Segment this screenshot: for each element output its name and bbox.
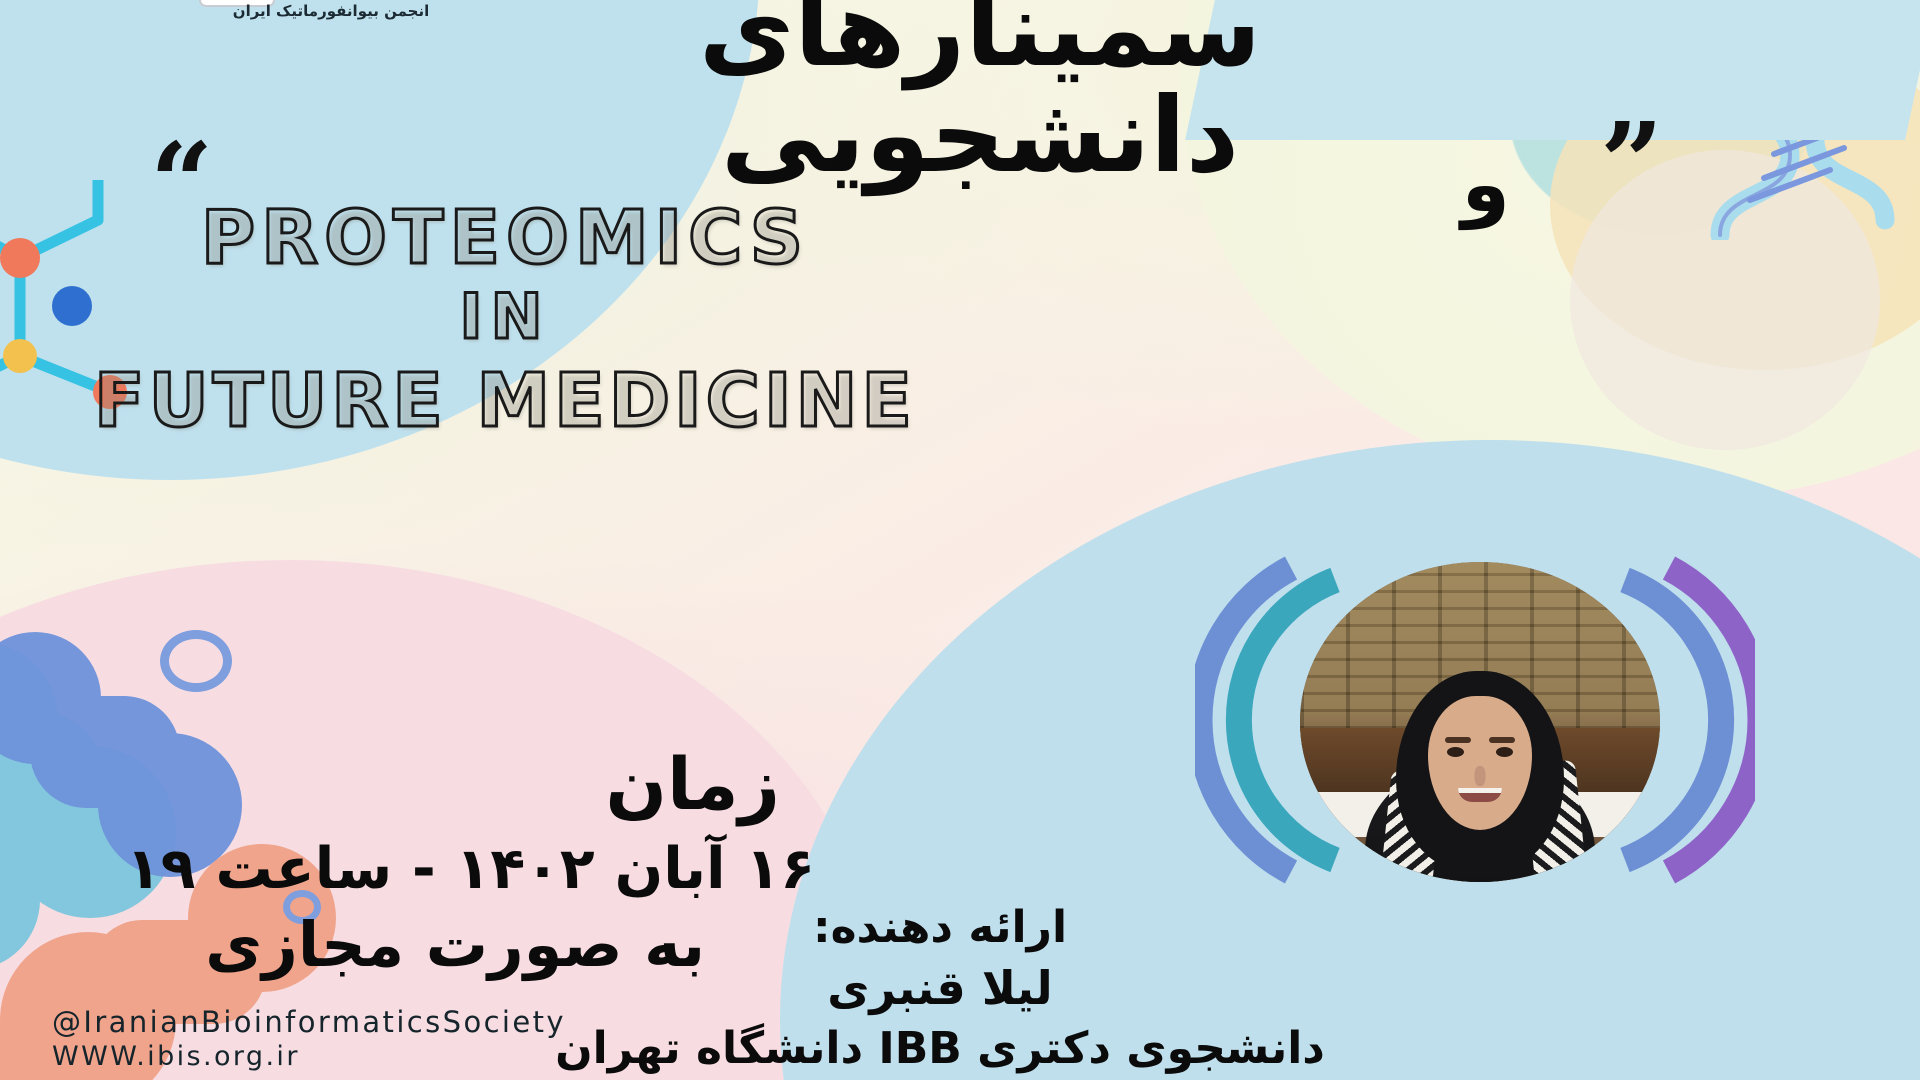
footer-links: @IranianBioinformaticsSociety WWW.ibis.o… <box>52 1004 566 1074</box>
social-handle[interactable]: @IranianBioinformaticsSociety <box>52 1004 566 1040</box>
poster-title-fa: سمینارهای دانشجویی <box>570 0 1390 188</box>
title-conjunction: و <box>1462 140 1510 230</box>
quote-close-icon: ” <box>1600 130 1663 196</box>
time-label: زمان <box>605 742 780 826</box>
ring-icon <box>160 630 232 692</box>
presenter-label: ارائه دهنده: <box>290 898 1590 957</box>
title-line-2: دانشجویی <box>570 82 1390 188</box>
title-en-line-1: PROTEOMICS <box>0 195 1465 281</box>
time-value: ۱۶ آبان ۱۴۰۲ - ساعت ۱۹ <box>126 836 815 902</box>
website-link[interactable]: WWW.ibis.org.ir <box>52 1040 566 1074</box>
title-en-line-2: IN <box>0 280 1465 353</box>
seminar-poster: انجمن بیوانفورماتیک ایران “ ” سمینارهای … <box>0 0 1920 1080</box>
logo-caption: انجمن بیوانفورماتیک ایران <box>206 2 456 20</box>
speaker-photo <box>1300 562 1660 882</box>
speaker-photo-block <box>1195 540 1755 900</box>
title-en-line-3: FUTURE MEDICINE <box>0 358 1465 444</box>
